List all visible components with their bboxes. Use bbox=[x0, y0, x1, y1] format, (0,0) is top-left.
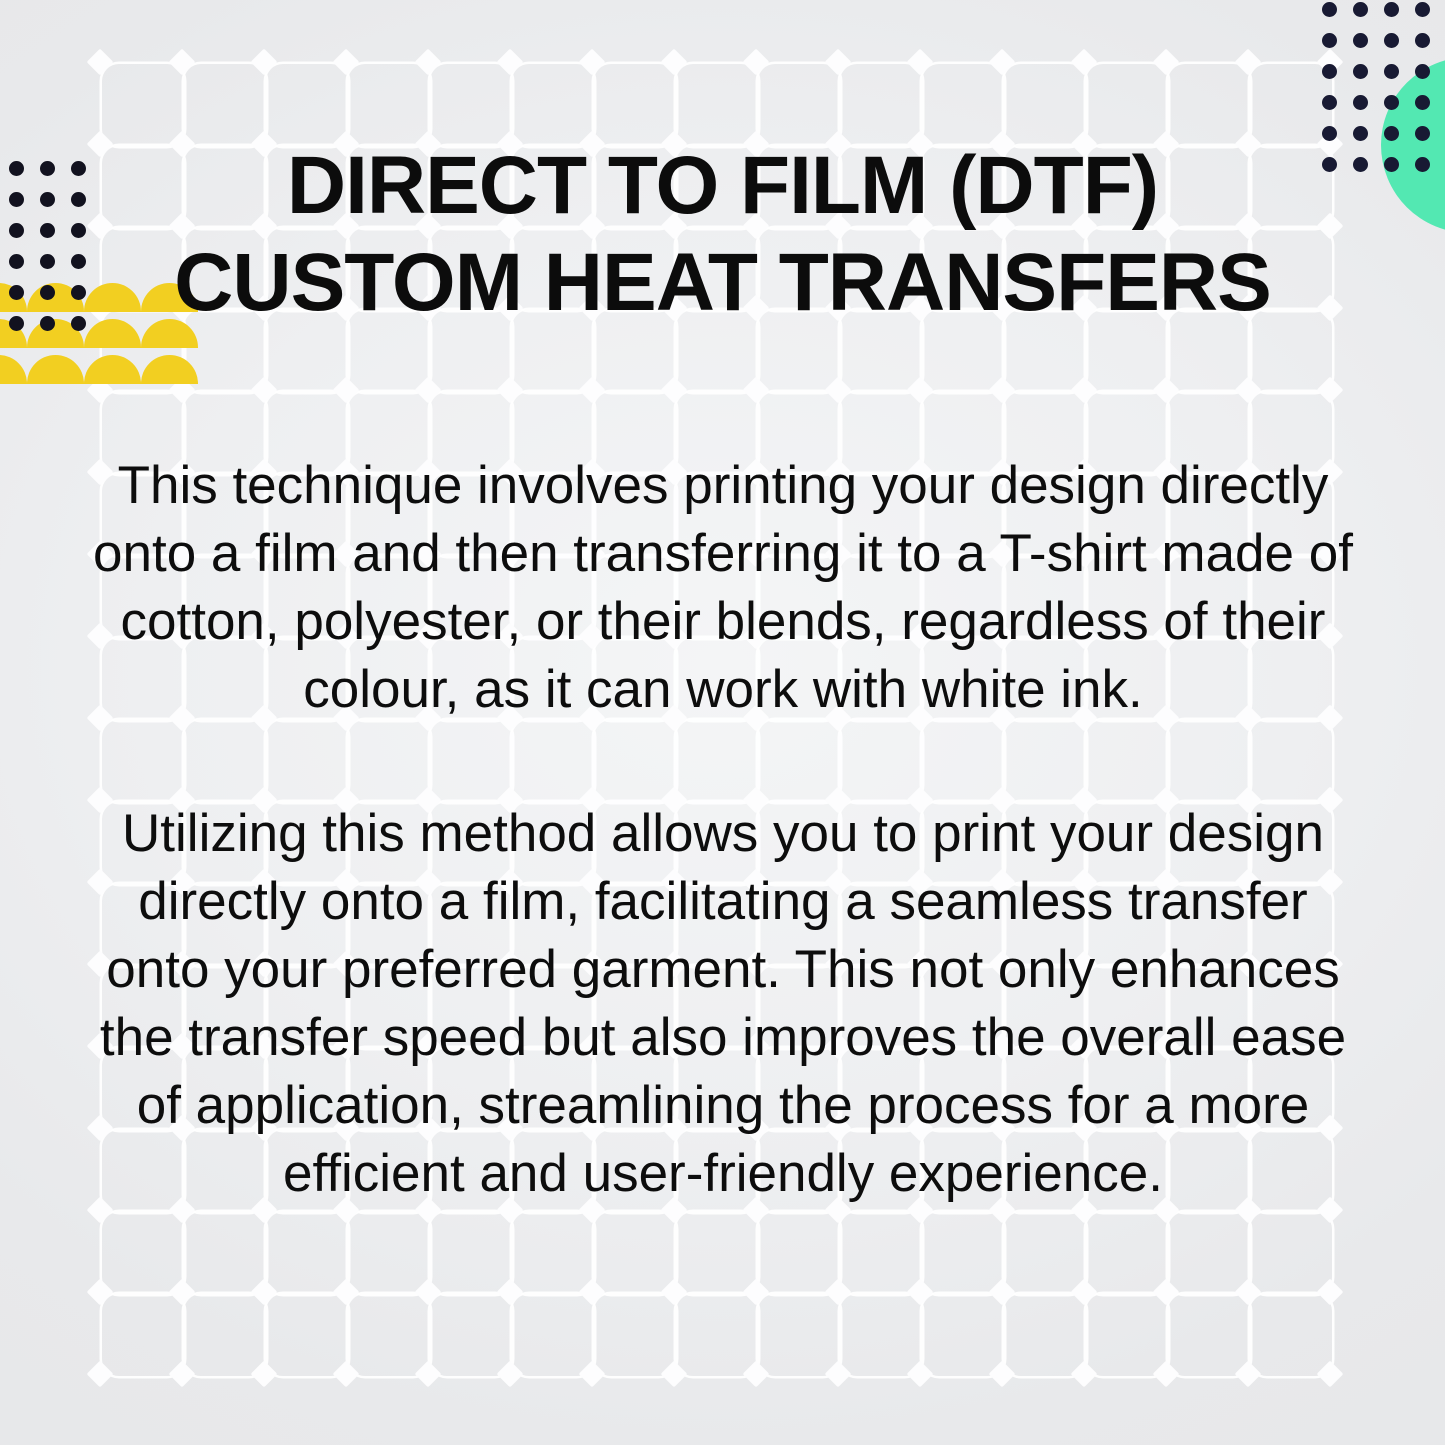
title-line-2: CUSTOM HEAT TRANSFERS bbox=[100, 235, 1345, 332]
poster-content: DIRECT TO FILM (DTF) CUSTOM HEAT TRANSFE… bbox=[0, 0, 1445, 1445]
paragraph-2: Utilizing this method allows you to prin… bbox=[92, 800, 1354, 1208]
paragraph-1: This technique involves printing your de… bbox=[92, 452, 1354, 724]
poster-canvas: DIRECT TO FILM (DTF) CUSTOM HEAT TRANSFE… bbox=[0, 0, 1445, 1445]
page-title: DIRECT TO FILM (DTF) CUSTOM HEAT TRANSFE… bbox=[100, 138, 1345, 332]
title-line-1: DIRECT TO FILM (DTF) bbox=[100, 138, 1345, 235]
body-text-block: This technique involves printing your de… bbox=[92, 452, 1354, 1208]
